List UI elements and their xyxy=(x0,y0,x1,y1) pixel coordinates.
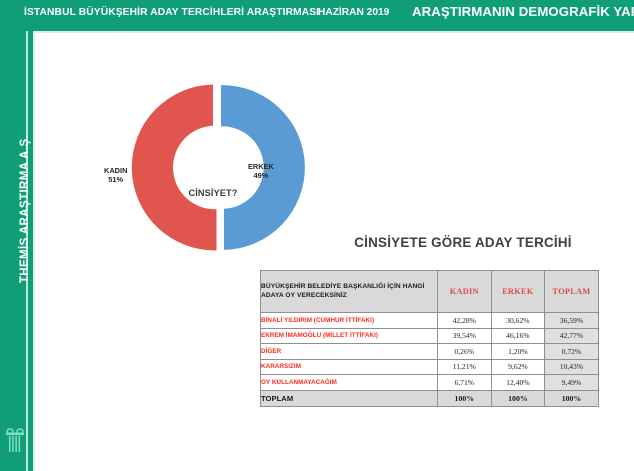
left-rail: THEMİS ARAŞTIRMA A.Ş. xyxy=(0,28,33,471)
cell-diger-erkek: 1,20% xyxy=(491,344,545,360)
total-row-label: TOPLAM xyxy=(261,390,438,406)
donut-center-label: CİNSİYET? xyxy=(168,188,258,198)
table-header-row: BÜYÜKŞEHİR BELEDİYE BAŞKANLIĞI İÇİN HANG… xyxy=(261,271,599,313)
cell-ekrem-toplam: 42,77% xyxy=(545,328,599,344)
cell-oykullanmayacagim-erkek: 12,40% xyxy=(491,375,545,391)
donut-label-erkek-name: ERKEK xyxy=(248,162,274,171)
cell-ekrem-erkek: 46,16% xyxy=(491,328,545,344)
donut-label-kadin-value: 51% xyxy=(104,175,127,184)
header-study-title: İSTANBUL BÜYÜKŞEHİR ADAY TERCİHLERİ ARAŞ… xyxy=(24,7,319,18)
header-section-title: ARAŞTIRMANIN DEMOGRAFİK YAPISI xyxy=(412,4,634,19)
table-row: DİĞER 0,26% 1,20% 0,72% xyxy=(261,344,599,360)
cell-ekrem-kadin: 39,54% xyxy=(438,328,492,344)
cell-diger-kadin: 0,26% xyxy=(438,344,492,360)
donut-slice-kadin xyxy=(132,85,217,251)
candidate-preference-table-wrap: BÜYÜKŞEHİR BELEDİYE BAŞKANLIĞI İÇİN HANG… xyxy=(260,270,598,407)
cell-binali-kadin: 42,28% xyxy=(438,313,492,329)
total-kadin: 100% xyxy=(438,390,492,406)
table-question-header: BÜYÜKŞEHİR BELEDİYE BAŞKANLIĞI İÇİN HANG… xyxy=(261,271,438,313)
row-label-binali-yildirim: BİNALİ YILDIRIM (CUMHUR İTTİFAKI) xyxy=(261,313,438,329)
slide-root: İSTANBUL BÜYÜKŞEHİR ADAY TERCİHLERİ ARAŞ… xyxy=(0,0,634,471)
table-total-row: TOPLAM 100% 100% 100% xyxy=(261,390,599,406)
table-col-header-kadin: KADIN xyxy=(438,271,492,313)
cell-kararsizim-kadin: 11,21% xyxy=(438,359,492,375)
table-col-header-erkek: ERKEK xyxy=(491,271,545,313)
header-date: HAZİRAN 2019 xyxy=(318,7,389,18)
cell-binali-toplam: 36,59% xyxy=(545,313,599,329)
table-row: KARARSIZIM 11,21% 9,62% 10,43% xyxy=(261,359,599,375)
table-section-title: CİNSİYETE GÖRE ADAY TERCİHİ xyxy=(323,235,603,250)
donut-label-kadin: KADIN 51% xyxy=(104,166,127,185)
candidate-preference-table: BÜYÜKŞEHİR BELEDİYE BAŞKANLIĞI İÇİN HANG… xyxy=(260,270,599,407)
table-col-header-toplam: TOPLAM xyxy=(545,271,599,313)
gender-donut-chart: KADIN 51% ERKEK 49% CİNSİYET? xyxy=(58,75,338,260)
cell-kararsizim-toplam: 10,43% xyxy=(545,359,599,375)
slide-header: İSTANBUL BÜYÜKŞEHİR ADAY TERCİHLERİ ARAŞ… xyxy=(0,0,634,28)
cell-oykullanmayacagim-toplam: 9,49% xyxy=(545,375,599,391)
content-panel: KADIN 51% ERKEK 49% CİNSİYET? CİNSİYETE … xyxy=(33,31,634,471)
row-label-kararsizim: KARARSIZIM xyxy=(261,359,438,375)
company-name-vertical: THEMİS ARAŞTIRMA A.Ş. xyxy=(19,109,31,309)
cell-binali-erkek: 30,62% xyxy=(491,313,545,329)
table-row: EKREM İMAMOĞLU (MİLLET İTTİFAKI) 39,54% … xyxy=(261,328,599,344)
cell-kararsizim-erkek: 9,62% xyxy=(491,359,545,375)
row-label-oy-kullanmayacagim: OY KULLANMAYACAĞIM xyxy=(261,375,438,391)
cell-diger-toplam: 0,72% xyxy=(545,344,599,360)
cell-oykullanmayacagim-kadin: 6,71% xyxy=(438,375,492,391)
total-erkek: 100% xyxy=(491,390,545,406)
table-row: OY KULLANMAYACAĞIM 6,71% 12,40% 9,49% xyxy=(261,375,599,391)
donut-label-kadin-name: KADIN xyxy=(104,166,127,175)
table-row: BİNALİ YILDIRIM (CUMHUR İTTİFAKI) 42,28%… xyxy=(261,313,599,329)
donut-svg xyxy=(58,75,338,260)
row-label-diger: DİĞER xyxy=(261,344,438,360)
donut-label-erkek: ERKEK 49% xyxy=(248,162,274,181)
donut-label-erkek-value: 49% xyxy=(248,171,274,180)
ionic-column-icon xyxy=(4,426,26,456)
total-toplam: 100% xyxy=(545,390,599,406)
row-label-ekrem-imamoglu: EKREM İMAMOĞLU (MİLLET İTTİFAKI) xyxy=(261,328,438,344)
